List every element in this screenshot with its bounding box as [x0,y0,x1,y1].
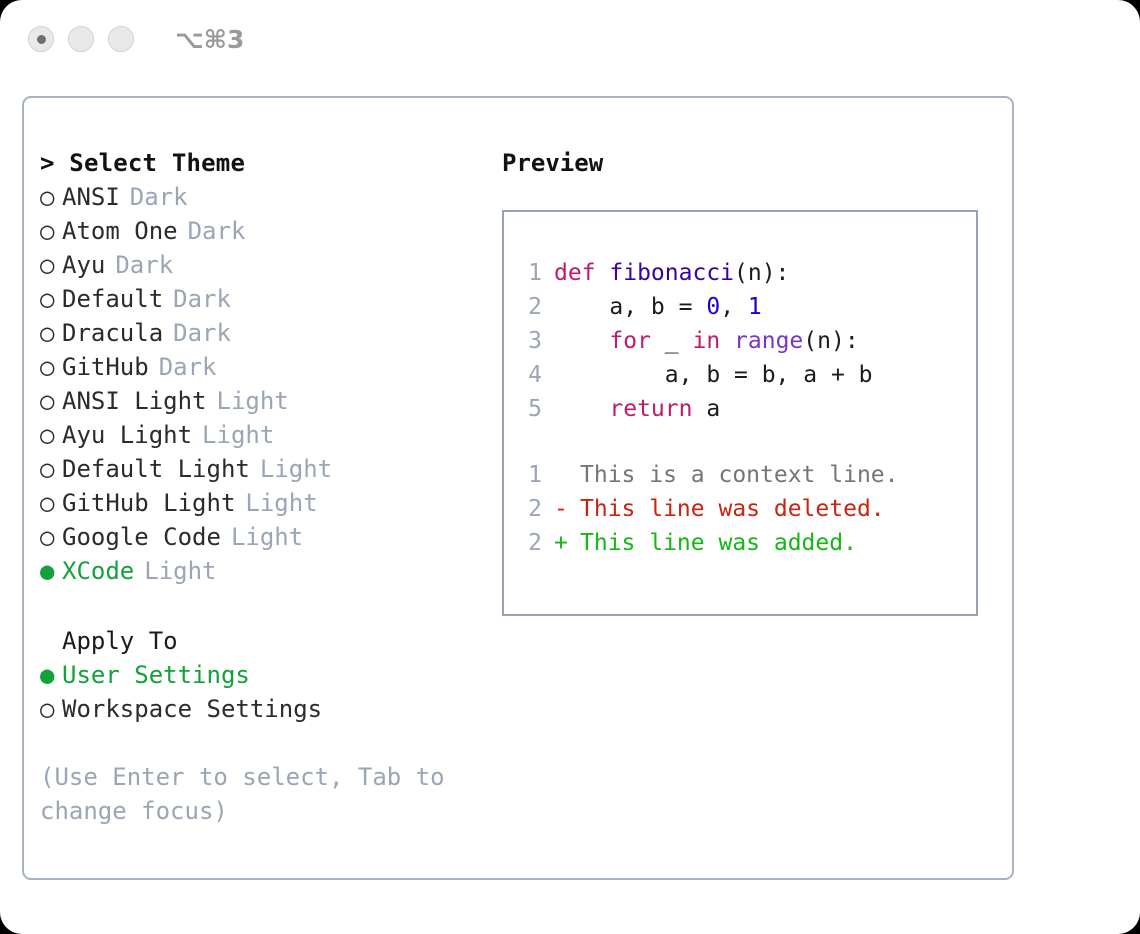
radio-unselected-icon: ○ [40,418,62,452]
diff-text: This is a context line. [580,462,899,488]
theme-list-item[interactable]: ○AyuDark [40,248,490,282]
theme-name-label: Google Code [62,523,221,551]
code-line-number: 1 [520,256,542,290]
radio-unselected-icon: ○ [40,350,62,384]
theme-list-item[interactable]: ○DraculaDark [40,316,490,350]
code-token-fn: fibonacci [609,260,734,286]
code-line-number: 2 [520,290,542,324]
window-dot-active[interactable] [28,26,54,52]
code-line-number: 4 [520,358,542,392]
code-token-num: 0 [706,294,720,320]
theme-list-item[interactable]: ○Default LightLight [40,452,490,486]
code-token-kw: return [609,396,692,422]
code-line: 1def fibonacci(n): [520,256,976,290]
theme-name-label: ANSI [62,183,120,211]
radio-unselected-icon: ○ [40,486,62,520]
theme-name-label: Ayu Light [62,421,192,449]
code-line-number: 3 [520,324,542,358]
theme-list-item[interactable]: ○Atom OneDark [40,214,490,248]
code-token-plain [720,328,734,354]
theme-name-label: GitHub Light [62,489,235,517]
code-line: 3 for _ in range(n): [520,324,976,358]
theme-variant-tag: Dark [173,319,231,347]
theme-variant-tag: Light [260,455,332,483]
radio-selected-icon: ● [40,554,62,588]
diff-sign: - [554,492,580,526]
code-token-plain: a [692,396,720,422]
theme-list: ○ANSIDark○Atom OneDark○AyuDark○DefaultDa… [40,180,490,588]
code-token-plain: (n): [734,260,789,286]
radio-unselected-icon: ○ [40,316,62,350]
theme-variant-tag: Light [245,489,317,517]
code-line: 4 a, b = b, a + b [520,358,976,392]
radio-unselected-icon: ○ [40,384,62,418]
apply-to-header: Apply To [40,624,490,658]
theme-list-item[interactable]: ●XCodeLight [40,554,490,588]
theme-name-label: Dracula [62,319,163,347]
preview-header: Preview [502,146,1002,180]
code-token-plain: a, b = b, a + b [554,362,873,388]
preview-box: 1def fibonacci(n):2 a, b = 0, 13 for _ i… [502,210,978,616]
apply-to-section: Apply To ●User Settings○Workspace Settin… [40,624,490,726]
code-token-plain [554,328,609,354]
radio-unselected-icon: ○ [40,520,62,554]
theme-name-label: Default Light [62,455,250,483]
code-token-plain: (n): [803,328,858,354]
radio-unselected-icon: ○ [40,214,62,248]
window-titlebar: ⌥⌘3 [0,0,1140,78]
radio-unselected-icon: ○ [40,180,62,214]
diff-line-context: 1This is a context line. [520,458,976,492]
radio-unselected-icon: ○ [40,248,62,282]
theme-list-item[interactable]: ○GitHub LightLight [40,486,490,520]
code-sample-block: 1def fibonacci(n):2 a, b = 0, 13 for _ i… [520,256,976,426]
diff-line-del: 2-This line was deleted. [520,492,976,526]
code-line-number: 5 [520,392,542,426]
code-token-plain [554,396,609,422]
code-token-kw: def [554,260,609,286]
diff-text: This line was added. [580,530,857,556]
theme-list-item[interactable]: ○Ayu LightLight [40,418,490,452]
keyboard-hint-text: (Use Enter to select, Tab to change focu… [40,760,450,828]
diff-text: This line was deleted. [580,496,885,522]
theme-list-item[interactable]: ○GitHubDark [40,350,490,384]
theme-list-item[interactable]: ○ANSIDark [40,180,490,214]
theme-variant-tag: Light [144,557,216,585]
main-panel: > Select Theme ○ANSIDark○Atom OneDark○Ay… [22,96,1014,880]
select-theme-header: > Select Theme [40,146,490,180]
radio-unselected-icon: ○ [40,452,62,486]
theme-variant-tag: Light [217,387,289,415]
code-line: 5 return a [520,392,976,426]
theme-variant-tag: Light [231,523,303,551]
radio-unselected-icon: ○ [40,692,62,726]
code-token-plain: , [720,294,748,320]
theme-name-label: XCode [62,557,134,585]
theme-variant-tag: Dark [115,251,173,279]
preview-column: Preview 1def fibonacci(n):2 a, b = 0, 13… [502,146,1002,616]
theme-variant-tag: Light [202,421,274,449]
code-token-kw: for [609,328,651,354]
theme-variant-tag: Dark [173,285,231,313]
theme-name-label: Ayu [62,251,105,279]
window-dot-third[interactable] [108,26,134,52]
code-token-num: 1 [748,294,762,320]
diff-line-number: 1 [520,458,542,492]
code-token-plain: a, b = [554,294,706,320]
apply-to-option[interactable]: ●User Settings [40,658,490,692]
theme-name-label: Atom One [62,217,178,245]
theme-name-label: GitHub [62,353,149,381]
diff-line-number: 2 [520,526,542,560]
keyboard-shortcut-label: ⌥⌘3 [175,25,244,54]
theme-list-item[interactable]: ○ANSI LightLight [40,384,490,418]
app-window: ⌥⌘3 > Select Theme ○ANSIDark○Atom OneDar… [0,0,1140,934]
preview-spacer [520,426,976,458]
apply-to-option-label: User Settings [62,661,250,689]
window-dot-second[interactable] [68,26,94,52]
apply-to-option[interactable]: ○Workspace Settings [40,692,490,726]
diff-sample-block: 1This is a context line.2-This line was … [520,458,976,560]
theme-variant-tag: Dark [188,217,246,245]
diff-sign: + [554,526,580,560]
diff-line-add: 2+This line was added. [520,526,976,560]
apply-to-list: ●User Settings○Workspace Settings [40,658,490,726]
code-line: 2 a, b = 0, 1 [520,290,976,324]
theme-selector-column: > Select Theme ○ANSIDark○Atom OneDark○Ay… [40,146,490,828]
theme-list-item[interactable]: ○DefaultDark [40,282,490,316]
diff-line-number: 2 [520,492,542,526]
theme-variant-tag: Dark [159,353,217,381]
theme-name-label: Default [62,285,163,313]
apply-to-option-label: Workspace Settings [62,695,322,723]
theme-name-label: ANSI Light [62,387,207,415]
radio-unselected-icon: ○ [40,282,62,316]
code-token-plain: _ [651,328,693,354]
code-token-call: range [734,328,803,354]
code-token-kw: in [692,328,720,354]
radio-selected-icon: ● [40,658,62,692]
theme-list-item[interactable]: ○Google CodeLight [40,520,490,554]
active-dot-indicator [37,35,46,44]
theme-variant-tag: Dark [130,183,188,211]
